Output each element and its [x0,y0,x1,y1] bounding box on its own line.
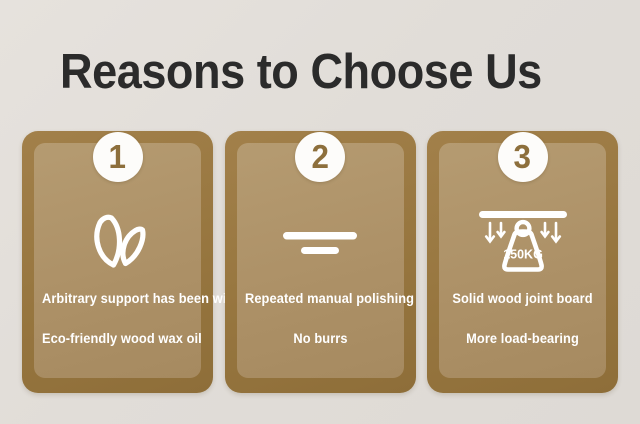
poster-canvas: Reasons to Choose Us 1 Arbitrary [0,0,640,424]
reason-card-3-panel: 3 [439,143,606,378]
reason-card-1-line-2: Eco-friendly wood wax oil [42,331,193,347]
badge-number: 2 [311,140,328,173]
reason-card-2-icon-area [237,201,404,283]
badge-number: 1 [109,140,126,173]
reason-card-2[interactable]: 2 Repeated manual polishing No burrs [225,131,416,393]
reason-card-1[interactable]: 1 Arbitrary support has been wiped Eco-f… [22,131,213,393]
reason-card-3-line-1: Solid wood joint board [447,291,598,307]
reasons-card-list: 1 Arbitrary support has been wiped Eco-f… [22,131,618,393]
reason-card-1-texts: Arbitrary support has been wiped Eco-fri… [38,291,197,347]
polishing-bars-icon [277,222,363,262]
reason-card-2-line-1: Repeated manual polishing [244,291,395,307]
reason-card-1-badge: 1 [93,132,143,182]
reason-card-3-line-2: More load-bearing [447,331,598,347]
reason-card-3-icon-area: 150KG [439,201,606,283]
reason-card-2-texts: Repeated manual polishing No burrs [241,291,400,347]
reason-card-3-badge: 3 [498,132,548,182]
reason-card-3-texts: Solid wood joint board More load-bearing [443,291,602,347]
leaf-sprout-icon [80,211,156,273]
reason-card-1-line-1: Arbitrary support has been wiped [42,291,193,307]
reason-card-3[interactable]: 3 [427,131,618,393]
reason-card-2-panel: 2 Repeated manual polishing No burrs [237,143,404,378]
reason-card-2-badge: 2 [295,132,345,182]
badge-number: 3 [514,140,531,173]
reason-card-1-icon-area [34,201,201,283]
load-bearing-weight-icon: 150KG [471,207,575,277]
reason-card-1-panel: 1 Arbitrary support has been wiped Eco-f… [34,143,201,378]
page-title: Reasons to Choose Us [60,46,542,98]
weight-label-text: 150KG [503,248,543,262]
reason-card-2-line-2: No burrs [244,331,395,347]
